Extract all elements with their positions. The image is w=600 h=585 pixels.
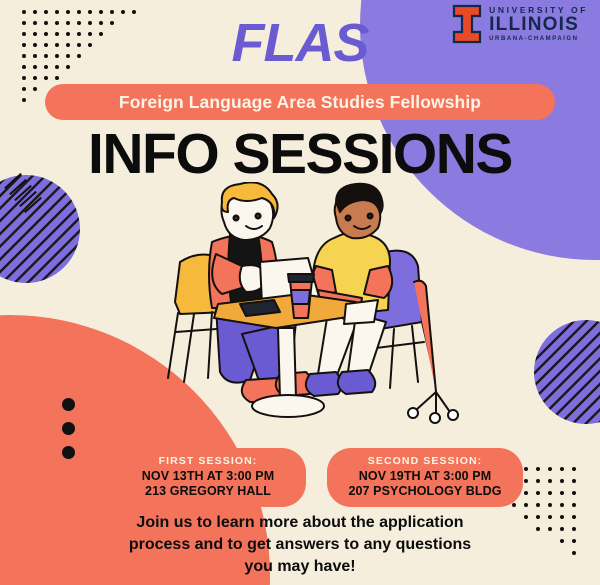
three-dots-decoration	[62, 398, 75, 470]
dot	[548, 527, 552, 531]
dot	[524, 491, 528, 495]
wordmark-line-2: ILLINOIS	[489, 15, 588, 34]
dot	[548, 491, 552, 495]
dot	[572, 479, 576, 483]
dot	[560, 479, 564, 483]
hatch-line	[19, 191, 37, 207]
session-heading: FIRST SESSION:	[126, 454, 290, 469]
dot	[560, 491, 564, 495]
dot	[524, 503, 528, 507]
dot	[512, 503, 516, 507]
university-wordmark: UNIVERSITY OF ILLINOIS URBANA-CHAMPAIGN	[489, 6, 588, 43]
hatch-line	[24, 197, 42, 213]
dot	[536, 503, 540, 507]
dot	[536, 479, 540, 483]
dot	[560, 503, 564, 507]
dot	[62, 446, 75, 459]
dot	[548, 515, 552, 519]
dot	[572, 503, 576, 507]
session-location: 207 PSYCHOLOGY BLDG	[343, 484, 507, 499]
cta-line-1: Join us to learn more about the applicat…	[85, 512, 515, 534]
dot	[548, 503, 552, 507]
dot	[536, 527, 540, 531]
dot	[572, 527, 576, 531]
call-to-action-text: Join us to learn more about the applicat…	[85, 512, 515, 578]
session-datetime: NOV 19TH AT 3:00 PM	[343, 469, 507, 484]
dot	[560, 539, 564, 543]
dot	[560, 527, 564, 531]
striped-circle-left	[0, 175, 80, 283]
cta-line-2: process and to get answers to any questi…	[85, 534, 515, 556]
dot	[536, 515, 540, 519]
session-card-first: FIRST SESSION: NOV 13TH AT 3:00 PM 213 G…	[110, 448, 306, 507]
session-card-second: SECOND SESSION: NOV 19TH AT 3:00 PM 207 …	[327, 448, 523, 507]
dot	[22, 87, 26, 91]
dot	[548, 479, 552, 483]
dot	[560, 515, 564, 519]
session-heading: SECOND SESSION:	[343, 454, 507, 469]
program-full-name-pill: Foreign Language Area Studies Fellowship	[45, 84, 555, 120]
dot	[560, 467, 564, 471]
dot	[572, 539, 576, 543]
dot	[572, 491, 576, 495]
dot	[62, 422, 75, 435]
flas-info-sessions-poster: UNIVERSITY OF ILLINOIS URBANA-CHAMPAIGN …	[0, 0, 600, 585]
dot	[33, 87, 37, 91]
dot	[524, 479, 528, 483]
hatch-line	[14, 185, 32, 201]
dot	[572, 551, 576, 555]
striped-circle-right	[534, 320, 600, 424]
dot	[536, 467, 540, 471]
meeting-illustration	[150, 182, 470, 437]
dot	[62, 398, 75, 411]
dot	[22, 98, 26, 102]
block-i-icon	[452, 4, 482, 44]
program-full-name-label: Foreign Language Area Studies Fellowship	[119, 92, 481, 113]
session-location: 213 GREGORY HALL	[126, 484, 290, 499]
wordmark-line-3: URBANA-CHAMPAIGN	[489, 36, 588, 42]
dot	[572, 515, 576, 519]
dot	[44, 76, 48, 80]
dot	[33, 76, 37, 80]
wordmark-line-1: UNIVERSITY OF	[489, 6, 588, 15]
cta-line-3: you may have!	[85, 556, 515, 578]
dot	[524, 467, 528, 471]
dot	[524, 515, 528, 519]
session-datetime: NOV 13TH AT 3:00 PM	[126, 469, 290, 484]
dot	[536, 491, 540, 495]
dot	[22, 76, 26, 80]
dot	[548, 467, 552, 471]
event-title: INFO SESSIONS	[0, 121, 600, 187]
dot	[55, 76, 59, 80]
dot	[572, 467, 576, 471]
university-logo: UNIVERSITY OF ILLINOIS URBANA-CHAMPAIGN	[452, 4, 588, 44]
